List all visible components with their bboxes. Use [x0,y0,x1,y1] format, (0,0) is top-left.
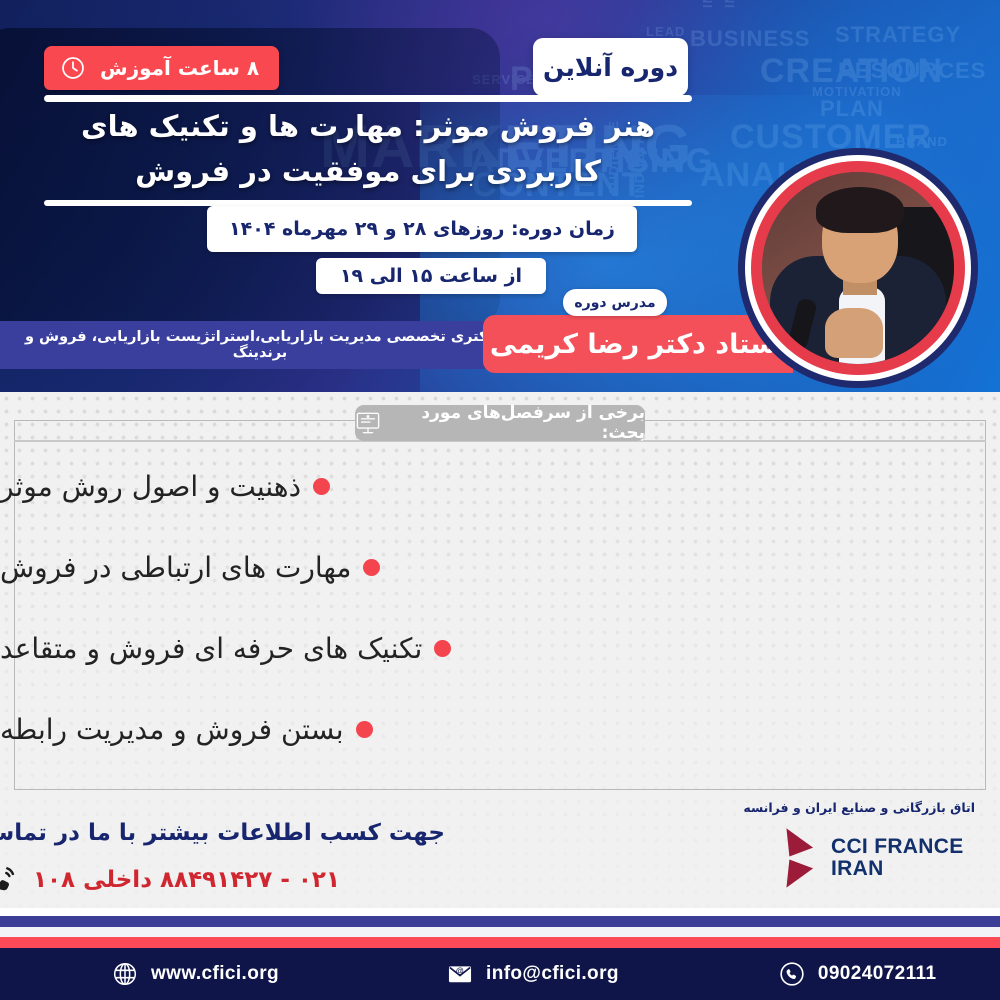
stripe-blue [0,916,1000,927]
svg-text:@: @ [456,967,464,976]
phone-ringing-icon [0,863,17,897]
list-item: تکنیک های حرفه ای فروش و متقاعد [0,632,1000,665]
bg-word: INTEREST [722,0,737,8]
topic-label: ذهنیت و اصول روش موثر [0,470,301,503]
course-date-box: زمان دوره: روزهای ۲۸ و ۲۹ مهرماه ۱۴۰۴ [207,206,637,252]
cci-logo-block: اتاق بازرگانی و صنایع ایران و فرانسه CCI… [745,800,975,895]
envelope-icon: @ [447,961,473,987]
stripe-red [0,937,1000,948]
footer-whatsapp[interactable]: 09024072111 [779,961,937,987]
online-course-badge-label: دوره آنلاین [543,53,678,82]
footer-website[interactable]: www.cfici.org [112,961,279,987]
contact-phone-row[interactable]: ۰۲۱ - ۸۸۴۹۱۴۲۷ داخلی ۱۰۸ [0,863,340,897]
globe-icon [112,961,138,987]
course-time-box: از ساعت ۱۵ الی ۱۹ [316,258,546,294]
bg-word: RESOURCES [838,58,986,84]
topic-label: بستن فروش و مدیریت رابطه [0,713,344,746]
topics-heading: برخی از سرفصل‌های مورد بحث: [355,405,645,441]
cci-logo-text: CCI FRANCE IRAN [831,836,964,880]
footer-email[interactable]: @ info@cfici.org [447,961,619,987]
hours-badge: ۸ ساعت آموزش [44,46,279,90]
footer-email-label[interactable]: info@cfici.org [486,963,619,985]
poster-footer: www.cfici.org @ info@cfici.org 090240721… [0,948,1000,1000]
poster-header: PEOPLE ADVERTISING CREATION CUSTOMER STR… [0,0,1000,395]
course-poster: PEOPLE ADVERTISING CREATION CUSTOMER STR… [0,0,1000,1000]
instructor-credentials: دکتری تخصصی مدیریت بازاریابی،استراتژیست … [18,329,502,361]
list-item: ذهنیت و اصول روش موثر [0,470,1000,503]
cci-france-iran-logo-icon [745,821,819,895]
portrait-hands [825,308,883,358]
topic-label: مهارت های ارتباطی در فروش [0,551,351,584]
contact-cta: جهت کسب اطلاعات بیشتر با ما در تماس باشی… [0,820,445,846]
portrait-photo [762,172,954,364]
instructor-label-pill: مدرس دوره [563,289,667,316]
bullet-dot-icon [363,559,380,576]
cci-logo-row: CCI FRANCE IRAN [745,821,975,895]
clock-icon [60,55,86,81]
list-item: مهارت های ارتباطی در فروش [0,551,1000,584]
whatsapp-icon [779,961,805,987]
cci-logo-line2: IRAN [831,858,964,880]
online-course-badge: دوره آنلاین [533,38,688,96]
instructor-portrait [738,148,978,388]
course-date-label: زمان دوره: روزهای ۲۸ و ۲۹ مهرماه ۱۴۰۴ [229,218,615,240]
course-title: هنر فروش موثر: مهارت ها و تکنیک های کارب… [44,104,692,194]
course-time-label: از ساعت ۱۵ الی ۱۹ [340,265,522,287]
bullet-dot-icon [434,640,451,657]
bg-word: LEAD [646,24,685,39]
footer-website-label[interactable]: www.cfici.org [151,963,279,985]
list-item: بستن فروش و مدیریت رابطه [0,713,1000,746]
stripe-white [0,927,1000,937]
bg-word: BUSINESS [690,26,810,52]
cci-logo-line1: CCI FRANCE [831,836,964,858]
footer-whatsapp-label[interactable]: 09024072111 [818,963,937,985]
instructor-credentials-bar: دکتری تخصصی مدیریت بازاریابی،استراتژیست … [0,321,520,369]
chamber-fa-title: اتاق بازرگانی و صنایع ایران و فرانسه [745,800,975,815]
topic-label: تکنیک های حرفه ای فروش و متقاعد [0,632,422,665]
bg-word: INFORMATION [700,0,715,8]
instructor-label: مدرس دوره [574,295,655,311]
presentation-screen-icon [355,411,381,435]
hours-badge-label: ۸ ساعت آموزش [100,56,259,80]
topics-list: ذهنیت و اصول روش موثر مهارت های ارتباطی … [0,470,1000,794]
bullet-dot-icon [356,721,373,738]
contact-phone-number[interactable]: ۰۲۱ - ۸۸۴۹۱۴۲۷ داخلی ۱۰۸ [33,867,340,893]
title-rule-top [44,95,692,102]
portrait-hair [816,187,904,233]
topics-heading-label: برخی از سرفصل‌های مورد بحث: [391,403,645,443]
bullet-dot-icon [313,478,330,495]
bg-word: STRATEGY [835,22,961,48]
